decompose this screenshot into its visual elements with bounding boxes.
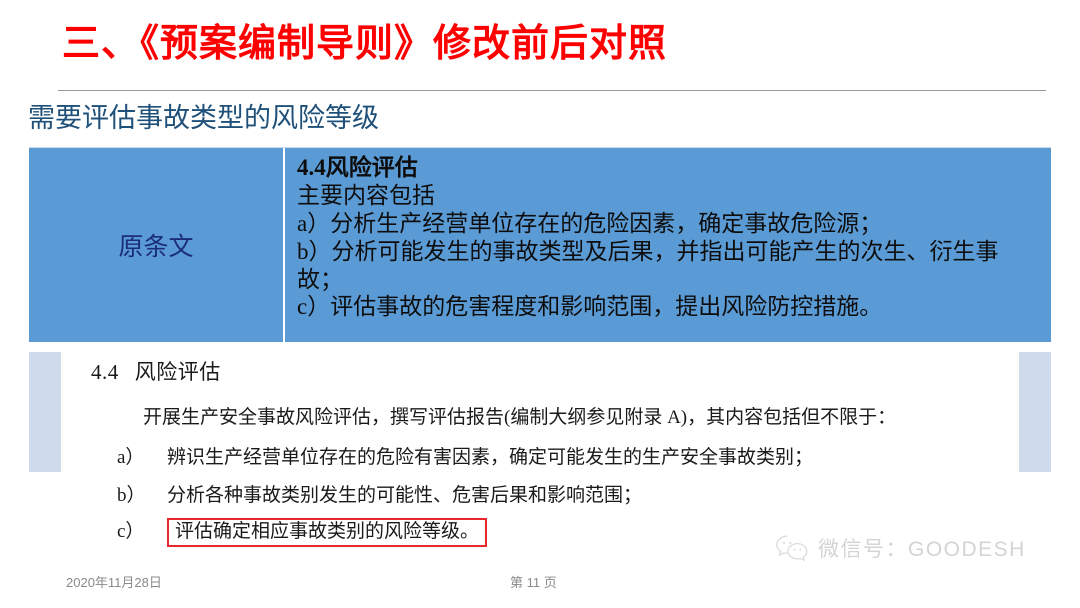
page-subtitle: 需要评估事故类型的风险等级: [28, 100, 379, 136]
table-row-label-cell: 原条文: [29, 148, 285, 342]
document-heading: 4.4风险评估: [91, 356, 221, 386]
table-row-label: 原条文: [118, 227, 193, 263]
footer-page-number: 第 11 页: [510, 572, 557, 591]
table-content-line-0: 主要内容包括: [297, 182, 1041, 210]
table-content-line-2: b）分析可能发生的事故类型及后果，并指出可能产生的次生、衍生事故；: [297, 238, 1041, 294]
document-excerpt: 4.4风险评估 开展生产安全事故风险评估，撰写评估报告(编制大纲参见附录 A)，…: [29, 344, 1051, 549]
document-list-text: 分析各种事故类别发生的可能性、危害后果和影响范围；: [167, 480, 642, 507]
watermark: 微信号：GOODESH: [775, 533, 1026, 563]
document-list-text: 辨识生产经营单位存在的危险有害因素，确定可能发生的生产安全事故类别；: [167, 442, 813, 469]
document-list-marker: b）: [117, 480, 167, 507]
document-left-margin: [29, 352, 61, 472]
slide-canvas: 三、《预案编制导则》修改前后对照 需要评估事故类型的风险等级 原条文 4.4风险…: [0, 0, 1080, 608]
table-content-line-1: a）分析生产经营单位存在的危险因素，确定事故危险源；: [297, 210, 1041, 238]
footer-date: 2020年11月28日: [66, 572, 162, 591]
document-paragraph: 开展生产安全事故风险评估，撰写评估报告(编制大纲参见附录 A)，其内容包括但不限…: [143, 402, 896, 429]
table-content-cell: 4.4风险评估 主要内容包括 a）分析生产经营单位存在的危险因素，确定事故危险源…: [285, 148, 1051, 342]
page-title: 三、《预案编制导则》修改前后对照: [62, 24, 667, 66]
table-content-line-3: c）评估事故的危害程度和影响范围，提出风险防控措施。: [297, 293, 1041, 321]
watermark-text: 微信号：GOODESH: [818, 533, 1026, 563]
document-list-item: a） 辨识生产经营单位存在的危险有害因素，确定可能发生的生产安全事故类别；: [117, 442, 813, 469]
document-heading-number: 4.4: [91, 360, 119, 384]
title-divider: [58, 90, 1046, 91]
document-page: 4.4风险评估 开展生产安全事故风险评估，撰写评估报告(编制大纲参见附录 A)，…: [61, 344, 1019, 549]
document-right-margin: [1019, 352, 1051, 472]
document-list-item-highlighted: c） 评估确定相应事故类别的风险等级。: [117, 516, 487, 547]
document-list-marker: a）: [117, 442, 167, 469]
document-list-item: b） 分析各种事故类别发生的可能性、危害后果和影响范围；: [117, 480, 642, 507]
wechat-icon: [775, 534, 809, 562]
table-content-heading: 4.4风险评估: [297, 154, 1041, 182]
document-list-marker: c）: [117, 516, 167, 543]
document-heading-text: 风险评估: [135, 360, 221, 384]
comparison-table: 原条文 4.4风险评估 主要内容包括 a）分析生产经营单位存在的危险因素，确定事…: [29, 147, 1051, 342]
document-list-text-highlighted: 评估确定相应事故类别的风险等级。: [167, 518, 487, 547]
